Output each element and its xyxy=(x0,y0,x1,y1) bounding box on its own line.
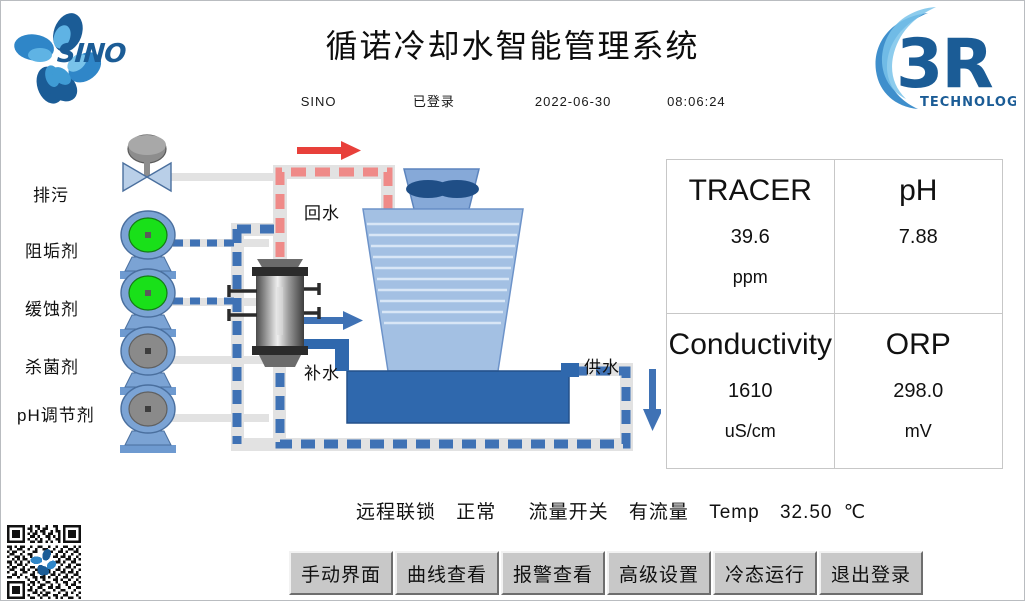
measurement-card-conductivity: Conductivity 1610 uS/cm xyxy=(667,314,835,468)
measurement-value: 298.0 xyxy=(893,380,943,403)
temp-label: Temp xyxy=(709,502,759,523)
measurement-unit: ppm xyxy=(733,267,768,288)
remote-interlock-label: 远程联锁 xyxy=(356,502,436,523)
pipe-label-return: 回水 xyxy=(304,199,340,224)
measurement-panel: TRACER 39.6 ppm pH 7.88 Conductivity 161… xyxy=(666,159,1003,469)
measurement-unit: mV xyxy=(905,421,932,442)
supply-flow-arrow-down xyxy=(643,369,661,431)
svg-text:3R: 3R xyxy=(896,25,992,104)
logged-user: SINO xyxy=(284,94,354,109)
row-label-corrosion-inhibitor: 缓蚀剂 xyxy=(25,295,79,320)
row-label-antiscalant: 阻垢剂 xyxy=(25,237,79,262)
row-label-ph-adjuster: pH调节剂 xyxy=(17,401,95,426)
cold-start-button[interactable]: 冷态运行 xyxy=(713,551,817,595)
advanced-settings-button[interactable]: 高级设置 xyxy=(607,551,711,595)
measurement-card-ph: pH 7.88 xyxy=(835,160,1003,314)
pipe-label-makeup: 补水 xyxy=(304,359,340,384)
qr-code xyxy=(5,525,83,599)
system-date: 2022-06-30 xyxy=(518,94,628,109)
row-label-biocide: 杀菌剂 xyxy=(25,353,79,378)
cooling-tower xyxy=(301,169,579,423)
action-button-bar: 手动界面 曲线查看 报警查看 高级设置 冷态运行 退出登录 xyxy=(289,551,923,595)
3r-tagline: TECHNOLOGY xyxy=(920,95,1016,110)
3r-technology-logo: 3R TECHNOLOGY xyxy=(866,5,1016,123)
measurement-name: TRACER xyxy=(689,172,812,210)
measurement-value: 1610 xyxy=(728,380,773,403)
pipe-label-supply: 供水 xyxy=(584,353,620,378)
application-window: SINO 循诺冷却水智能管理系统 SINO 已登录 2022-06-30 08:… xyxy=(0,0,1025,601)
blowdown-valve[interactable] xyxy=(123,135,171,191)
logout-button[interactable]: 退出登录 xyxy=(819,551,923,595)
measurement-card-tracer: TRACER 39.6 ppm xyxy=(667,160,835,314)
curve-view-button[interactable]: 曲线查看 xyxy=(395,551,499,595)
tower-basin xyxy=(347,371,569,423)
measurement-name: Conductivity xyxy=(669,326,832,364)
flow-switch-value: 有流量 xyxy=(629,502,689,523)
temp-unit: ℃ xyxy=(844,502,866,523)
dosing-pump-4[interactable] xyxy=(120,385,176,453)
remote-interlock-value: 正常 xyxy=(456,502,496,523)
manual-interface-button[interactable]: 手动界面 xyxy=(289,551,393,595)
measurement-name: pH xyxy=(899,172,937,210)
measurement-name: ORP xyxy=(886,326,951,364)
row-label-blowdown: 排污 xyxy=(33,181,69,206)
tower-fan-blade-right xyxy=(435,180,479,198)
process-flow-diagram xyxy=(1,131,661,491)
bottom-status-bar: 远程联锁 正常 流量开关 有流量 Temp 32.50 ℃ xyxy=(356,497,866,524)
flow-switch-label: 流量开关 xyxy=(529,502,609,523)
measurement-value: 7.88 xyxy=(899,226,938,249)
measurement-unit: uS/cm xyxy=(725,421,776,442)
return-flow-arrow xyxy=(297,141,361,160)
measurement-value: 39.6 xyxy=(731,226,770,249)
measurement-card-orp: ORP 298.0 mV xyxy=(835,314,1003,468)
login-state: 已登录 xyxy=(389,91,479,110)
alarm-view-button[interactable]: 报警查看 xyxy=(501,551,605,595)
temp-value: 32.50 xyxy=(780,502,833,523)
system-time: 08:06:24 xyxy=(651,94,741,109)
